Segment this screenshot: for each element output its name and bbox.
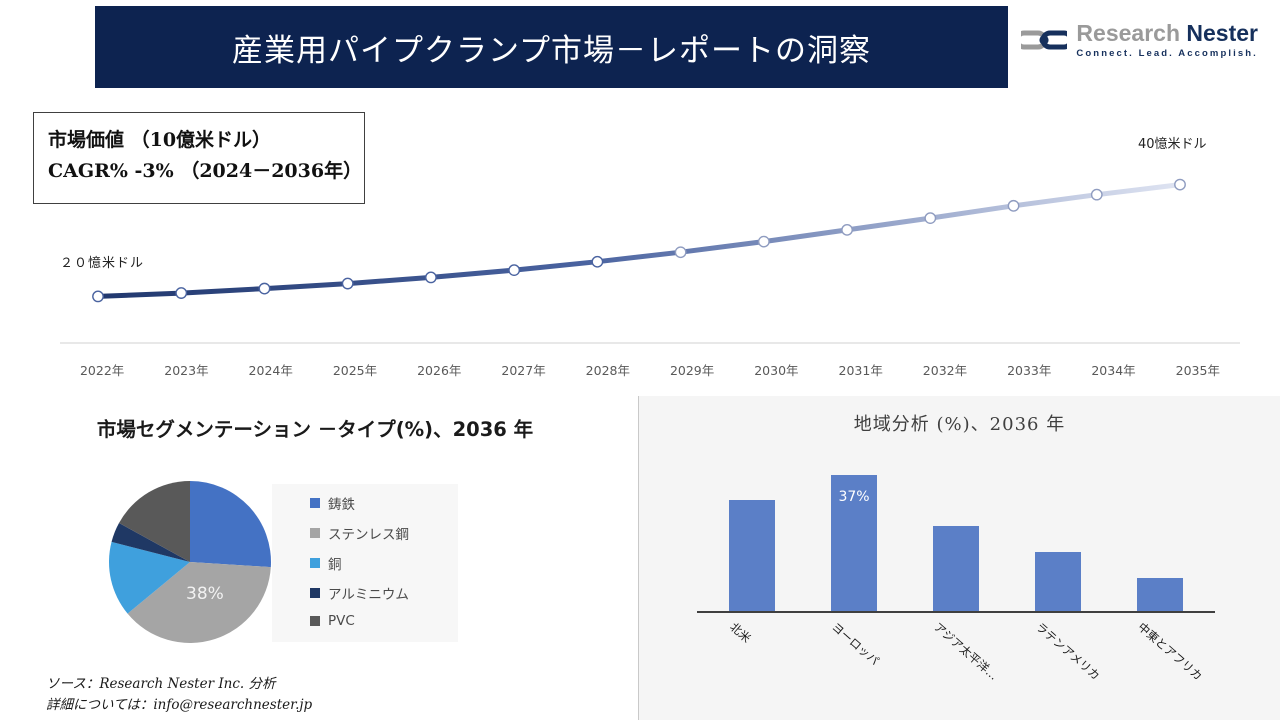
pie-highlight-label: 38% [186, 584, 224, 604]
line-chart-start-label: ２０憶米ドル [60, 252, 144, 271]
header-banner: 産業用パイプクランプ市場－レポートの洞察 [95, 6, 1008, 88]
x-axis-tick-label: 2028年 [566, 360, 650, 380]
bar-label-cell: アジア太平洋… [933, 615, 979, 705]
bar-label-cell: 北米 [729, 615, 775, 705]
bar-column [1137, 578, 1183, 611]
logo-word-nester: Nester [1186, 20, 1258, 46]
bar-chart-bars: 37% [701, 456, 1211, 611]
bar-x-axis-label: ヨーロッパ [829, 619, 883, 669]
bar [1035, 552, 1081, 611]
bar-column [933, 526, 979, 611]
line-chart-point [592, 257, 602, 267]
bar-column [1035, 552, 1081, 611]
x-axis-tick-label: 2030年 [734, 360, 818, 380]
x-axis-tick-label: 2031年 [819, 360, 903, 380]
bar-column: 37% [831, 475, 877, 612]
line-chart-point [1175, 179, 1185, 189]
regional-analysis-panel: 地域分析 (%)、2036 年 37% 北米ヨーロッパアジア太平洋…ラテンアメリ… [638, 396, 1280, 720]
legend-label: 銅 [328, 553, 342, 573]
x-axis-tick-label: 2035年 [1156, 360, 1240, 380]
line-chart-point [426, 272, 436, 282]
bar-x-axis-label: ラテンアメリカ [1033, 619, 1104, 684]
line-chart-point [842, 225, 852, 235]
line-chart-point [509, 265, 519, 275]
source-note: ソース：Research Nester Inc. 分析 詳細については：info… [46, 674, 312, 716]
logo-text: Research Nester Connect. Lead. Accomplis… [1076, 22, 1258, 59]
pie-legend-item: 銅 [310, 553, 458, 573]
legend-label: PVC [328, 613, 355, 629]
x-axis-tick-label: 2027年 [481, 360, 565, 380]
logo-tagline: Connect. Lead. Accomplish. [1076, 49, 1258, 59]
bar-label-cell: 中東とアフリカ [1137, 615, 1183, 705]
logo-word-research: Research [1076, 20, 1186, 46]
pie-legend: 鋳鉄ステンレス鋼銅アルミニウムPVC [272, 484, 458, 642]
legend-swatch-icon [310, 498, 320, 508]
line-chart-point [1092, 189, 1102, 199]
bar-x-axis-label: 北米 [727, 619, 755, 646]
brand-logo: Research Nester Connect. Lead. Accomplis… [1021, 22, 1258, 59]
line-chart-point [176, 288, 186, 298]
line-chart-x-axis-labels: 2022年2023年2024年2025年2026年2027年2028年2029年… [60, 360, 1240, 380]
pie-legend-item: PVC [310, 613, 458, 629]
legend-label: 鋳鉄 [328, 493, 355, 513]
bar-x-axis-label: 中東とアフリカ [1135, 619, 1206, 684]
legend-label: ステンレス鋼 [328, 523, 409, 543]
x-axis-tick-label: 2032年 [903, 360, 987, 380]
line-chart-svg [0, 104, 1280, 389]
source-line-2: 詳細については：info@researchnester.jp [46, 695, 312, 716]
pie-legend-item: ステンレス鋼 [310, 523, 458, 543]
slide-canvas: 産業用パイプクランプ市場－レポートの洞察 Research Nester Con… [0, 0, 1280, 720]
x-axis-tick-label: 2022年 [60, 360, 144, 380]
segmentation-panel: 市場セグメンテーション －タイプ(%)、2036 年 38% 鋳鉄ステンレス鋼銅… [0, 398, 628, 720]
bar-chart-baseline [697, 611, 1215, 613]
legend-swatch-icon [310, 528, 320, 538]
x-axis-tick-label: 2024年 [229, 360, 313, 380]
bar-column [729, 500, 775, 611]
bar-data-label: 37% [831, 489, 877, 505]
line-chart-point [675, 247, 685, 257]
bar-label-cell: ヨーロッパ [831, 615, 877, 705]
regional-analysis-title: 地域分析 (%)、2036 年 [639, 410, 1280, 436]
bar-chart-x-axis-labels: 北米ヨーロッパアジア太平洋…ラテンアメリカ中東とアフリカ [701, 615, 1211, 705]
x-axis-tick-label: 2023年 [144, 360, 228, 380]
line-chart-point [93, 291, 103, 301]
chain-link-logo-icon [1021, 25, 1067, 55]
source-line-1: ソース：Research Nester Inc. 分析 [46, 674, 312, 695]
x-axis-tick-label: 2034年 [1071, 360, 1155, 380]
line-chart-point [925, 213, 935, 223]
x-axis-tick-label: 2025年 [313, 360, 397, 380]
pie-chart [108, 480, 272, 644]
legend-swatch-icon [310, 588, 320, 598]
x-axis-tick-label: 2029年 [650, 360, 734, 380]
legend-swatch-icon [310, 558, 320, 568]
x-axis-tick-label: 2026年 [397, 360, 481, 380]
bar [729, 500, 775, 611]
line-chart-end-label: 40憶米ドル [1138, 133, 1207, 152]
x-axis-tick-label: 2033年 [987, 360, 1071, 380]
line-chart-point [759, 236, 769, 246]
bar-x-axis-label: アジア太平洋… [931, 619, 1002, 684]
pie-slice [190, 481, 271, 567]
bar [933, 526, 979, 611]
line-chart-point [259, 283, 269, 293]
bar [1137, 578, 1183, 611]
page-title: 産業用パイプクランプ市場－レポートの洞察 [232, 25, 871, 70]
pie-legend-item: アルミニウム [310, 583, 458, 603]
pie-legend-item: 鋳鉄 [310, 493, 458, 513]
legend-label: アルミニウム [328, 583, 409, 603]
segmentation-title: 市場セグメンテーション －タイプ(%)、2036 年 [60, 416, 570, 444]
legend-swatch-icon [310, 616, 320, 626]
market-value-line-chart: ２０憶米ドル 40憶米ドル [0, 104, 1280, 389]
line-chart-point [1008, 201, 1018, 211]
bar-label-cell: ラテンアメリカ [1035, 615, 1081, 705]
line-chart-point [342, 278, 352, 288]
